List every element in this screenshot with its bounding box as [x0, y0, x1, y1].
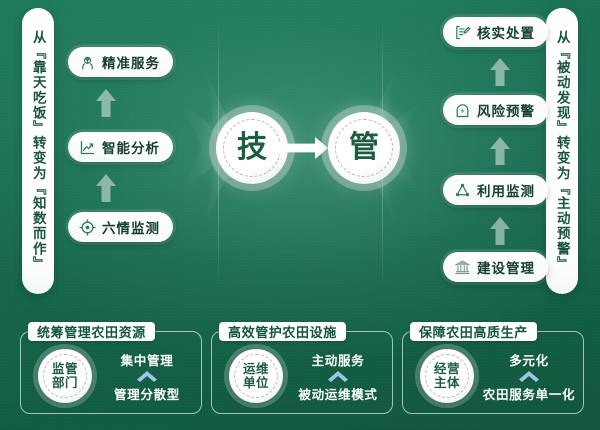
panel-body: 监管 部门 集中管理 管理分散型	[20, 344, 202, 408]
bank-building-icon	[454, 259, 471, 276]
panel-transition: 集中管理 管理分散型	[92, 350, 202, 403]
center-circle-management: 管	[328, 112, 400, 184]
double-arrow-icon	[272, 135, 328, 161]
arrow-up-icon-right-2	[489, 136, 511, 166]
shield-bolt-icon	[454, 102, 471, 119]
pill-precision-service[interactable]: 精准服务	[68, 47, 173, 77]
panel-from-state: 农田服务单一化	[483, 384, 575, 403]
panel-from-state: 管理分散型	[114, 384, 180, 403]
banner-left-text: 从『靠天吃饭』转变为『知数而作』	[31, 30, 45, 272]
banner-right-text: 从『被动发现』转变为『主动预警』	[555, 30, 569, 272]
dashed-ring	[335, 119, 393, 177]
pill-label: 智能分析	[102, 137, 160, 157]
panel-from-state: 被动运维模式	[298, 384, 377, 403]
panel-role-circle: 经营 主体	[420, 349, 474, 403]
pill-risk-warning[interactable]: 风险预警	[443, 95, 548, 125]
pill-label: 精准服务	[102, 52, 160, 72]
bottom-panel-facilities: 高效管护农田设施 运维 单位 主动服务 被动运维模式	[211, 322, 393, 414]
panel-transition: 多元化 农田服务单一化	[474, 350, 584, 403]
panel-title-text: 保障农田高质生产	[419, 322, 528, 341]
arrow-up-icon-left-1	[95, 88, 117, 118]
pill-label: 风险预警	[477, 100, 535, 120]
pill-label: 六情监测	[102, 217, 160, 237]
banner-right: 从『被动发现』转变为『主动预警』	[546, 8, 578, 294]
dashed-ring	[43, 354, 87, 398]
pill-intelligent-analysis[interactable]: 智能分析	[68, 132, 173, 162]
panel-to-state: 集中管理	[121, 350, 174, 369]
panel-title: 高效管护农田设施	[219, 322, 346, 341]
line-chart-up-icon	[79, 139, 96, 156]
pill-verification-disposal[interactable]: 核实处置	[443, 17, 548, 47]
panel-title: 保障农田高质生产	[410, 322, 537, 341]
panel-to-state: 主动服务	[312, 350, 365, 369]
infographic-canvas: 从『靠天吃饭』转变为『知数而作』 从『被动发现』转变为『主动预警』 精准服务 智…	[0, 0, 600, 430]
crosshair-target-icon	[79, 219, 96, 236]
panel-to-state: 多元化	[509, 350, 549, 369]
chevron-up-icon	[518, 370, 540, 383]
dashed-ring	[234, 354, 278, 398]
arrow-up-icon-right-1	[489, 57, 511, 87]
panel-body: 经营 主体 多元化 农田服务单一化	[402, 344, 584, 408]
panel-title: 统筹管理农田资源	[28, 322, 155, 341]
banner-left: 从『靠天吃饭』转变为『知数而作』	[22, 8, 54, 294]
chevron-up-icon	[327, 370, 349, 383]
arrow-up-icon-left-2	[95, 173, 117, 203]
recycle-nodes-icon	[454, 182, 471, 199]
pill-label: 核实处置	[477, 22, 535, 42]
panel-title-text: 统筹管理农田资源	[37, 322, 146, 341]
pill-label: 建设管理	[477, 257, 535, 277]
clipboard-pen-icon	[454, 24, 471, 41]
hands-sprout-icon	[79, 54, 96, 71]
panel-role-circle: 运维 单位	[229, 349, 283, 403]
pill-construction-management[interactable]: 建设管理	[443, 252, 548, 282]
panel-title-text: 高效管护农田设施	[228, 322, 337, 341]
bottom-panel-resources: 统筹管理农田资源 监管 部门 集中管理 管理分散型	[20, 322, 202, 414]
panel-transition: 主动服务 被动运维模式	[283, 350, 393, 403]
bottom-panel-production: 保障农田高质生产 经营 主体 多元化 农田服务单一化	[402, 322, 584, 414]
panel-body: 运维 单位 主动服务 被动运维模式	[211, 344, 393, 408]
panel-role-circle: 监管 部门	[38, 349, 92, 403]
pill-utilization-monitoring[interactable]: 利用监测	[443, 175, 548, 205]
dashed-ring	[425, 354, 469, 398]
pill-six-conditions-monitoring[interactable]: 六情监测	[68, 212, 173, 242]
chevron-up-icon	[136, 370, 158, 383]
arrow-up-icon-right-3	[489, 216, 511, 246]
pill-label: 利用监测	[477, 180, 535, 200]
